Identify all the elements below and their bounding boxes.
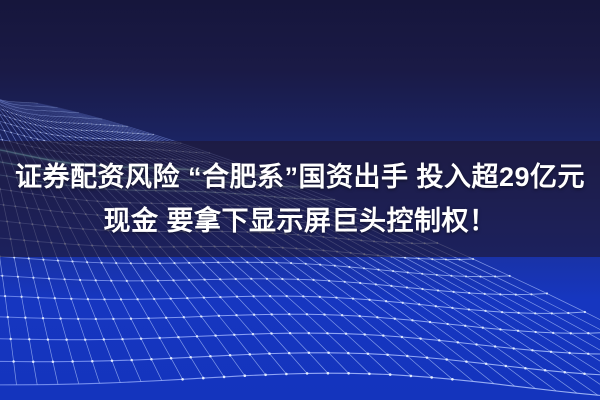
headline-line-2: 现金 要拿下显示屏巨头控制权！ [103, 199, 496, 243]
news-banner: 证券配资风险 “合肥系”国资出手 投入超29亿元 现金 要拿下显示屏巨头控制权！ [0, 0, 600, 400]
headline-block: 证券配资风险 “合肥系”国资出手 投入超29亿元 现金 要拿下显示屏巨头控制权！ [0, 141, 600, 257]
headline-line-1: 证券配资风险 “合肥系”国资出手 投入超29亿元 [15, 155, 585, 199]
